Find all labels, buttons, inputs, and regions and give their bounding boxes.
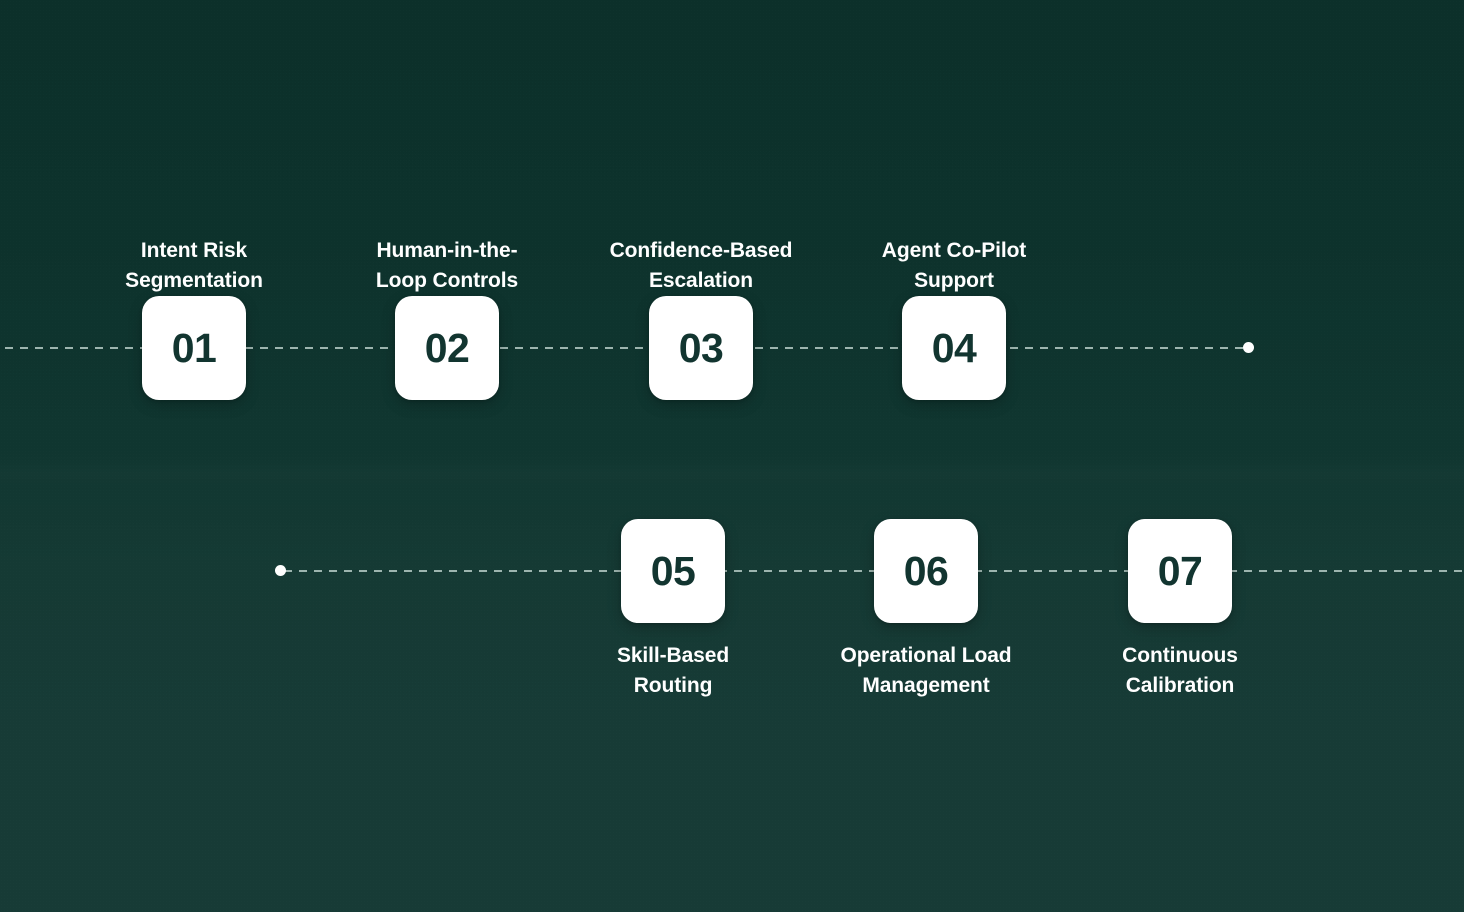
timeline-step-03[interactable]: Confidence-Based Escalation 03	[649, 296, 753, 400]
infographic-canvas: Intent Risk Segmentation 01 Human-in-the…	[0, 0, 1464, 912]
background-texture	[0, 0, 1464, 912]
timeline-step-05-number: 05	[651, 551, 696, 592]
timeline-step-01-number: 01	[172, 328, 217, 369]
timeline-step-07-number: 07	[1158, 551, 1203, 592]
timeline-step-06[interactable]: 06 Operational Load Management	[874, 519, 978, 623]
timeline-step-02[interactable]: Human-in-the- Loop Controls 02	[395, 296, 499, 400]
timeline-step-07-label: Continuous Calibration	[1030, 641, 1330, 701]
timeline-startpoint-dot-bottom	[275, 565, 286, 576]
timeline-step-05-card[interactable]: 05	[621, 519, 725, 623]
timeline-endpoint-dot-top	[1243, 342, 1254, 353]
timeline-step-03-number: 03	[679, 328, 724, 369]
timeline-step-04-label: Agent Co-Pilot Support	[804, 236, 1104, 296]
timeline-step-01-card[interactable]: 01	[142, 296, 246, 400]
timeline-step-07[interactable]: 07 Continuous Calibration	[1128, 519, 1232, 623]
timeline-step-03-card[interactable]: 03	[649, 296, 753, 400]
timeline-step-01[interactable]: Intent Risk Segmentation 01	[142, 296, 246, 400]
timeline-step-04[interactable]: Agent Co-Pilot Support 04	[902, 296, 1006, 400]
timeline-step-04-number: 04	[932, 328, 977, 369]
timeline-step-04-card[interactable]: 04	[902, 296, 1006, 400]
timeline-step-07-card[interactable]: 07	[1128, 519, 1232, 623]
timeline-step-05[interactable]: 05 Skill-Based Routing	[621, 519, 725, 623]
background-seam	[0, 462, 1464, 488]
timeline-step-06-number: 06	[904, 551, 949, 592]
timeline-step-06-card[interactable]: 06	[874, 519, 978, 623]
timeline-step-02-card[interactable]: 02	[395, 296, 499, 400]
timeline-step-02-number: 02	[425, 328, 470, 369]
